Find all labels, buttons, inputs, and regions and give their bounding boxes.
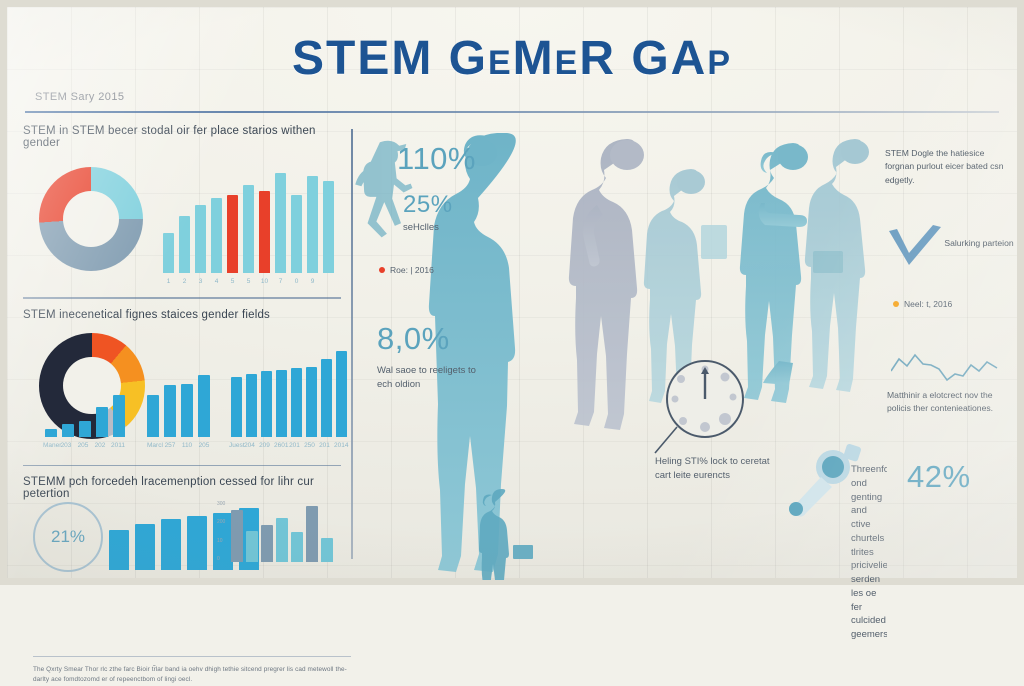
y-tick: 10 <box>217 539 225 544</box>
axis-tick: 209 <box>259 442 270 449</box>
bar <box>231 510 243 562</box>
clock-note: Heling STI% lock to ceretat cart leite e… <box>655 455 775 483</box>
y-tick: 200 <box>217 520 225 525</box>
bar <box>45 429 57 437</box>
stat-badge-value: 21% <box>51 527 85 547</box>
bar-3 <box>195 205 206 273</box>
bar <box>96 407 108 437</box>
axis-tick: 110 <box>181 442 193 449</box>
silhouette-woman-grey <box>569 139 644 430</box>
right-column: STEM Dogle the hatiesice forgnan purlout… <box>885 147 1021 567</box>
bar-chart-2-group-2 <box>147 351 210 437</box>
bar <box>113 395 125 437</box>
right-paragraph: STEM Dogle the hatiesice forgnan purlout… <box>885 147 1007 187</box>
axis-tick: 4 <box>211 278 222 285</box>
bar <box>135 524 155 570</box>
bar <box>291 368 302 437</box>
bar-5 <box>227 195 238 273</box>
panel-divider-1 <box>23 297 341 299</box>
legend-orange: Neel: t, 2016 <box>893 299 952 309</box>
sparkline-note: Matthinir a elotcrect nov the policis th… <box>887 389 1011 416</box>
bar <box>276 370 287 437</box>
axis-tick: 2011 <box>111 442 123 449</box>
axis-tick: 10 <box>259 278 270 285</box>
stat-80-label: Wal saoe to reeligets to ech oldion <box>377 364 489 392</box>
axis-tick: 2 <box>179 278 190 285</box>
bar <box>147 395 159 437</box>
axis-tick: 5 <box>243 278 254 285</box>
stat-42: 42% <box>907 459 971 495</box>
bar-9 <box>291 195 302 273</box>
panel-2-title: STEM inecenetical fignes staices gender … <box>23 309 347 321</box>
bar-chart-2-group-3 <box>231 351 347 437</box>
silhouette-woman-briefcase <box>805 139 869 392</box>
bar <box>321 538 333 562</box>
bar-6 <box>243 185 254 273</box>
clock-magnifier-icon <box>647 353 757 463</box>
axis-tick: Maner <box>43 442 55 449</box>
legend-orange-label: Neel: t, 2016 <box>904 299 952 309</box>
stat-25-value: 25% <box>403 191 453 219</box>
panel-divider-2 <box>23 465 341 467</box>
stat-80: 8,0% Wal saoe to reeligets to ech oldion <box>377 321 489 392</box>
bar <box>321 359 332 437</box>
bar <box>276 518 288 562</box>
axis-tick: 9 <box>307 278 318 285</box>
axis-tick: Juest <box>229 442 240 449</box>
axis-tick: 202 <box>94 442 106 449</box>
footnote-text: The Qxrty Smear Thor rlc zthe farc Bioir… <box>33 665 351 686</box>
check-mark-icon <box>885 225 947 271</box>
axis-tick: 257 <box>164 442 176 449</box>
bar <box>246 531 258 562</box>
poster-header: STEM GeMeR GAp STEM Sary 2015 <box>7 7 1017 117</box>
axis-tick: 7 <box>275 278 286 285</box>
axis-tick: 205 <box>77 442 89 449</box>
bar-8 <box>275 173 286 273</box>
stat-25-label: seHclles <box>403 221 453 235</box>
bar-chart-2-axis-3: Juest 204 209 2601 201 250 201 2014 <box>229 442 345 449</box>
legend-dot-icon <box>893 301 899 307</box>
legend-red-label: Roe: | 2016 <box>390 265 434 275</box>
bar <box>109 530 129 570</box>
bar <box>198 375 210 437</box>
stat-110-value: 110% <box>397 141 476 177</box>
y-tick: 0 <box>217 557 225 562</box>
bar <box>261 371 272 437</box>
panel-stem-share: STEM in STEM becer stodal oir fer place … <box>17 125 347 285</box>
panel-retention: STEMM pch forcedeh lracemenption cessed … <box>17 476 347 586</box>
axis-tick: 5 <box>227 278 238 285</box>
bar <box>306 367 317 437</box>
bar-chart-1-axis: 1 2 3 4 5 5 10 7 0 9 <box>163 278 318 285</box>
y-tick: 300 <box>217 502 225 507</box>
axis-tick: 201 <box>319 442 330 449</box>
axis-tick: 201 <box>289 442 300 449</box>
bar-chart-2-axis-2: Marcl 257 110 205 <box>147 442 210 449</box>
bar-1 <box>163 233 174 273</box>
bar-chart-1 <box>163 167 334 273</box>
infographic-poster: STEM GeMeR GAp STEM Sary 2015 STEM in ST… <box>0 0 1024 585</box>
axis-tick: 1 <box>163 278 174 285</box>
bar-chart-2-axis-1: Maner 203 205 202 2011 <box>43 442 123 449</box>
magnifier-note: Threenformeusle ond genting and ctive ch… <box>851 463 887 642</box>
axis-tick: 205 <box>198 442 210 449</box>
middle-column: 110% 25% seHclles Roe: | 2016 8,0% Wal s… <box>359 125 879 580</box>
left-column: STEM in STEM becer stodal oir fer place … <box>17 125 347 575</box>
footnote-divider <box>33 656 351 657</box>
bar-10 <box>307 176 318 273</box>
stat-badge-21: 21% <box>33 502 103 572</box>
axis-tick: 2601 <box>274 442 285 449</box>
stat-80-value: 8,0% <box>377 321 489 357</box>
donut-chart-1 <box>39 167 143 271</box>
bar <box>336 351 347 437</box>
bar-4 <box>211 198 222 273</box>
axis-tick: 204 <box>244 442 255 449</box>
legend-dot-icon <box>379 267 385 273</box>
bar-2 <box>179 216 190 273</box>
panel-1-title: STEM in STEM becer stodal oir fer place … <box>23 125 347 149</box>
bar-7 <box>259 191 270 273</box>
axis-tick: Marcl <box>147 442 159 449</box>
header-divider <box>25 111 999 113</box>
bar <box>181 384 193 437</box>
axis-tick: 3 <box>195 278 206 285</box>
bar <box>246 374 257 437</box>
bar <box>79 421 91 437</box>
axis-tick: 250 <box>304 442 315 449</box>
bar <box>161 519 181 570</box>
axis-tick: 203 <box>60 442 72 449</box>
stat-110: 110% <box>397 141 476 177</box>
axis-tick: 0 <box>291 278 302 285</box>
bar <box>231 377 242 437</box>
bar-chart-2-group-1 <box>45 351 125 437</box>
bar <box>164 385 176 437</box>
page-subtitle: STEM Sary 2015 <box>35 91 124 103</box>
panel-stem-fields: STEM inecenetical fignes staices gender … <box>17 309 347 459</box>
bar <box>291 532 303 562</box>
axis-tick: 2014 <box>334 442 345 449</box>
sparkline-chart <box>891 347 1001 383</box>
stat-42-value: 42% <box>907 459 971 495</box>
bar-11 <box>323 181 334 273</box>
legend-red: Roe: | 2016 <box>379 265 434 275</box>
bar <box>62 424 74 437</box>
panel-3-title: STEMM pch forcedeh lracemenption cessed … <box>23 476 347 500</box>
page-title: STEM GeMeR GAp <box>7 31 1017 86</box>
stat-25: 25% seHclles <box>403 191 453 235</box>
bar <box>261 525 273 562</box>
bar <box>187 516 207 570</box>
check-label: Salurking parteion <box>943 237 1015 250</box>
bar <box>306 506 318 562</box>
